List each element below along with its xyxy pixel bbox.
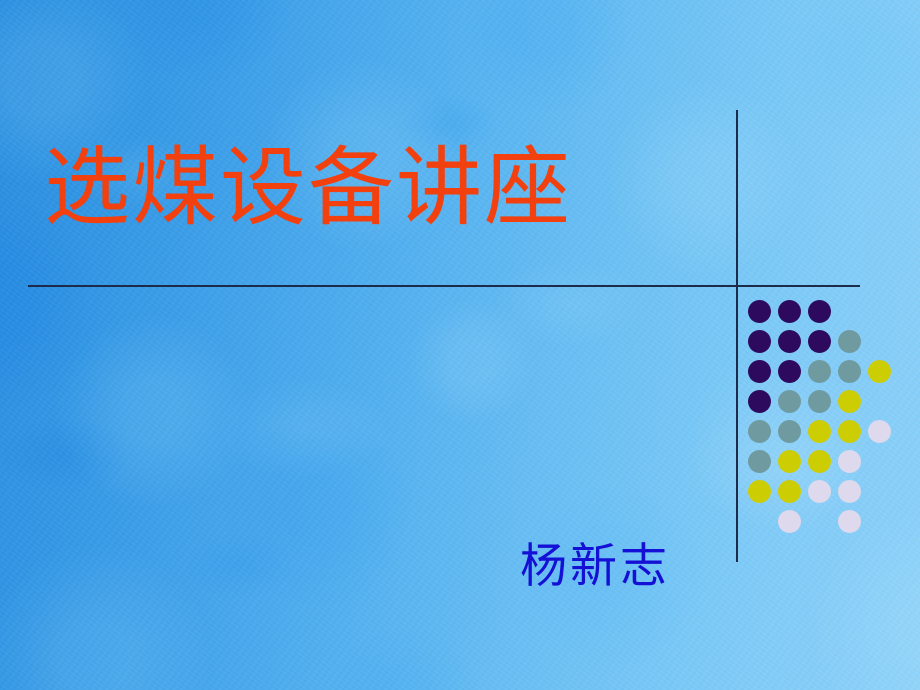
presentation-slide: 选煤设备讲座 杨新志 [0,0,920,690]
dot-yellow [778,480,801,503]
dot-lavender [808,480,831,503]
dot-purple [778,360,801,383]
dot-purple [748,390,771,413]
dot-teal [838,360,861,383]
vertical-rule-line [736,110,738,562]
dot-yellow [838,420,861,443]
dot-purple [778,330,801,353]
dot-purple [748,360,771,383]
dot-lavender [838,510,861,533]
dot-teal [808,360,831,383]
dot-yellow [838,390,861,413]
dot-teal [838,330,861,353]
dot-lavender [868,420,891,443]
dot-yellow [748,480,771,503]
dot-teal [748,450,771,473]
dot-yellow [778,450,801,473]
dot-purple [748,330,771,353]
dot-yellow [808,450,831,473]
dot-teal [748,420,771,443]
dot-yellow [868,360,891,383]
dot-lavender [838,450,861,473]
dot-purple [808,330,831,353]
slide-title: 选煤设备讲座 [44,140,704,236]
dot-purple [778,300,801,323]
dot-lavender [778,510,801,533]
slide-author: 杨新志 [470,527,720,596]
dot-lavender [838,480,861,503]
dot-teal [778,390,801,413]
dot-yellow [808,420,831,443]
dot-grid-decoration [748,300,916,536]
dot-purple [808,300,831,323]
dot-teal [808,390,831,413]
dot-purple [748,300,771,323]
dot-teal [778,420,801,443]
